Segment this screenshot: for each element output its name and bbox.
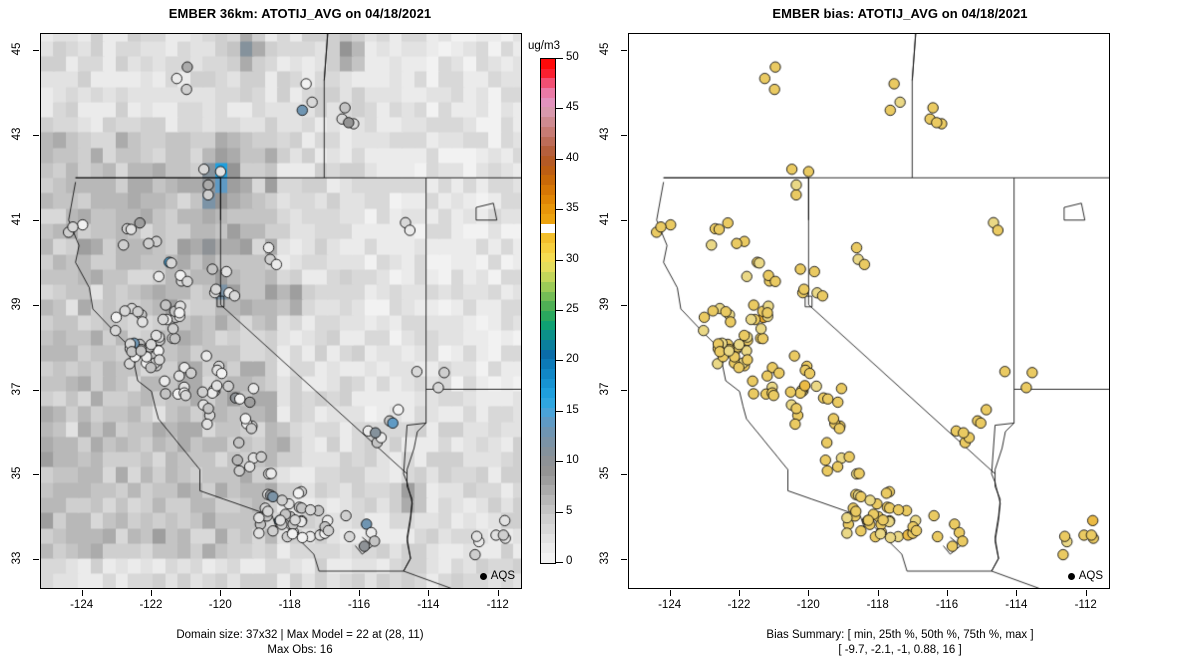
colorbar-segment — [541, 447, 555, 457]
colorbar-segment — [541, 456, 555, 466]
colorbar-tick — [556, 310, 563, 311]
x-tick — [1016, 590, 1017, 596]
x-tick-label: -118 — [270, 599, 310, 611]
x-tick — [1086, 590, 1087, 596]
x-tick — [220, 590, 221, 596]
bias-raster-layer — [629, 34, 1109, 588]
colorbar-tick-label: 25 — [566, 303, 579, 315]
colorbar-segment — [541, 543, 555, 553]
panel-model-title: EMBER 36km: ATOTIJ_AVG on 04/18/2021 — [0, 6, 600, 21]
aqs-legend-label: AQS — [1079, 570, 1103, 582]
y-tick-label: 45 — [11, 34, 23, 64]
colorbar-tick — [556, 360, 563, 361]
x-tick — [290, 590, 291, 596]
colorbar-segment — [541, 388, 555, 398]
colorbar-segment — [541, 379, 555, 389]
colorbar-segment — [541, 476, 555, 486]
colorbar-tick-label: 50 — [566, 51, 579, 63]
x-tick — [428, 590, 429, 596]
y-tick-label: 41 — [11, 204, 23, 234]
y-tick-label: 39 — [11, 289, 23, 319]
aqs-legend-label: AQS — [491, 570, 515, 582]
colorbar-segment — [541, 204, 555, 214]
x-tick-label: -116 — [927, 599, 967, 611]
colorbar-tick — [556, 209, 563, 210]
y-tick-label: 39 — [599, 289, 611, 319]
colorbar-segment — [541, 417, 555, 427]
colorbar-segment — [541, 340, 555, 350]
aqs-legend-model: AQS — [480, 570, 515, 582]
y-tick-label: 33 — [599, 543, 611, 573]
x-tick — [878, 590, 879, 596]
colorbar-tick-label: 20 — [566, 353, 579, 365]
colorbar-tick — [556, 461, 563, 462]
x-tick-label: -120 — [788, 599, 828, 611]
colorbar-segment — [541, 262, 555, 272]
colorbar-segment — [541, 514, 555, 524]
y-tick-label: 43 — [599, 119, 611, 149]
x-tick-label: -112 — [478, 599, 518, 611]
colorbar-segment — [541, 253, 555, 263]
x-tick — [359, 590, 360, 596]
colorbar-tick-label: 40 — [566, 152, 579, 164]
colorbar-segment — [541, 88, 555, 98]
y-tick-label: 41 — [599, 204, 611, 234]
colorbar-segment — [541, 146, 555, 156]
colorbar-segment — [541, 505, 555, 515]
x-tick-label: -116 — [339, 599, 379, 611]
colorbar-tick-label: 35 — [566, 202, 579, 214]
colorbar-segment — [541, 272, 555, 282]
x-tick — [808, 590, 809, 596]
colorbar-tick — [556, 411, 563, 412]
aqs-marker-icon — [480, 573, 487, 580]
y-tick — [621, 220, 627, 221]
colorbar-tick — [556, 512, 563, 513]
colorbar-tick — [556, 260, 563, 261]
y-tick — [621, 474, 627, 475]
model-caption-line1: Domain size: 37x32 | Max Model = 22 at (… — [0, 628, 600, 643]
colorbar-segment — [541, 156, 555, 166]
colorbar-segment — [541, 69, 555, 79]
x-tick — [947, 590, 948, 596]
colorbar-segment — [541, 534, 555, 544]
x-tick — [670, 590, 671, 596]
colorbar-segment — [541, 408, 555, 418]
x-tick-label: -118 — [858, 599, 898, 611]
y-tick-label: 35 — [11, 458, 23, 488]
colorbar-segment — [541, 311, 555, 321]
aqs-marker-icon — [1068, 573, 1075, 580]
y-tick — [621, 390, 627, 391]
colorbar-segment — [541, 59, 555, 69]
y-tick — [33, 559, 39, 560]
colorbar-tick-label: 45 — [566, 101, 579, 113]
y-tick-label: 33 — [11, 543, 23, 573]
colorbar-segment — [541, 359, 555, 369]
x-tick-label: -120 — [200, 599, 240, 611]
colorbar-tick-label: 5 — [566, 505, 572, 517]
panel-bias-title: EMBER bias: ATOTIJ_AVG on 04/18/2021 — [600, 6, 1200, 21]
y-tick-label: 35 — [599, 458, 611, 488]
colorbar-segment — [541, 137, 555, 147]
aqs-legend-bias: AQS — [1068, 570, 1103, 582]
colorbar-segment — [541, 195, 555, 205]
y-tick — [33, 135, 39, 136]
colorbar-gradient — [540, 58, 556, 564]
model-caption-line2: Max Obs: 16 — [0, 643, 600, 658]
colorbar-tick-label: 15 — [566, 404, 579, 416]
colorbar-segment — [541, 350, 555, 360]
colorbar-segment — [541, 233, 555, 243]
model-colorbar-unit: ug/m3 — [528, 40, 560, 52]
colorbar-tick-label: 10 — [566, 454, 579, 466]
bias-map-plot-area[interactable]: AQS — [628, 33, 1110, 589]
y-tick-label: 37 — [599, 374, 611, 404]
colorbar-segment — [541, 127, 555, 137]
panel-model: EMBER 36km: ATOTIJ_AVG on 04/18/2021 AQS… — [0, 0, 600, 672]
bias-caption-line2: [ -9.7, -2.1, -1, 0.88, 16 ] — [600, 643, 1200, 658]
x-tick — [82, 590, 83, 596]
colorbar-segment — [541, 398, 555, 408]
x-tick-label: -124 — [650, 599, 690, 611]
colorbar-segment — [541, 166, 555, 176]
colorbar-segment — [541, 301, 555, 311]
y-tick-label: 43 — [11, 119, 23, 149]
y-tick — [33, 305, 39, 306]
colorbar-segment — [541, 224, 555, 234]
y-tick — [621, 305, 627, 306]
colorbar-tick — [556, 159, 563, 160]
model-raster-layer — [41, 34, 521, 588]
colorbar-tick — [556, 58, 563, 59]
colorbar-tick-label: 0 — [566, 555, 572, 567]
colorbar-segment — [541, 185, 555, 195]
colorbar-segment — [541, 107, 555, 117]
panel-bias: EMBER bias: ATOTIJ_AVG on 04/18/2021 AQS… — [600, 0, 1200, 672]
bias-caption-line1: Bias Summary: [ min, 25th %, 50th %, 75t… — [600, 628, 1200, 643]
colorbar-segment — [541, 437, 555, 447]
colorbar-segment — [541, 524, 555, 534]
x-tick-label: -122 — [719, 599, 759, 611]
colorbar-segment — [541, 466, 555, 476]
model-map-plot-area[interactable]: AQS — [40, 33, 522, 589]
colorbar-segment — [541, 321, 555, 331]
colorbar-segment — [541, 98, 555, 108]
y-tick — [621, 559, 627, 560]
colorbar-segment — [541, 330, 555, 340]
colorbar-segment — [541, 495, 555, 505]
x-tick-label: -114 — [996, 599, 1036, 611]
y-tick — [33, 474, 39, 475]
y-tick — [33, 50, 39, 51]
x-tick — [498, 590, 499, 596]
colorbar-tick — [556, 108, 563, 109]
colorbar-segment — [541, 553, 555, 563]
colorbar-segment — [541, 175, 555, 185]
y-tick — [33, 390, 39, 391]
colorbar-segment — [541, 427, 555, 437]
bias-caption: Bias Summary: [ min, 25th %, 50th %, 75t… — [600, 628, 1200, 658]
colorbar-segment — [541, 485, 555, 495]
x-tick-label: -114 — [408, 599, 448, 611]
colorbar-segment — [541, 214, 555, 224]
colorbar-segment — [541, 243, 555, 253]
y-tick-label: 45 — [599, 34, 611, 64]
y-tick — [621, 135, 627, 136]
x-tick — [151, 590, 152, 596]
y-tick — [621, 50, 627, 51]
colorbar-segment — [541, 78, 555, 88]
x-tick — [739, 590, 740, 596]
colorbar-tick — [556, 562, 563, 563]
x-tick-label: -122 — [131, 599, 171, 611]
colorbar-segment — [541, 117, 555, 127]
colorbar-segment — [541, 292, 555, 302]
y-tick-label: 37 — [11, 374, 23, 404]
x-tick-label: -124 — [62, 599, 102, 611]
x-tick-label: -112 — [1066, 599, 1106, 611]
colorbar-segment — [541, 369, 555, 379]
colorbar-tick-label: 30 — [566, 253, 579, 265]
y-tick — [33, 220, 39, 221]
colorbar-segment — [541, 282, 555, 292]
model-caption: Domain size: 37x32 | Max Model = 22 at (… — [0, 628, 600, 658]
